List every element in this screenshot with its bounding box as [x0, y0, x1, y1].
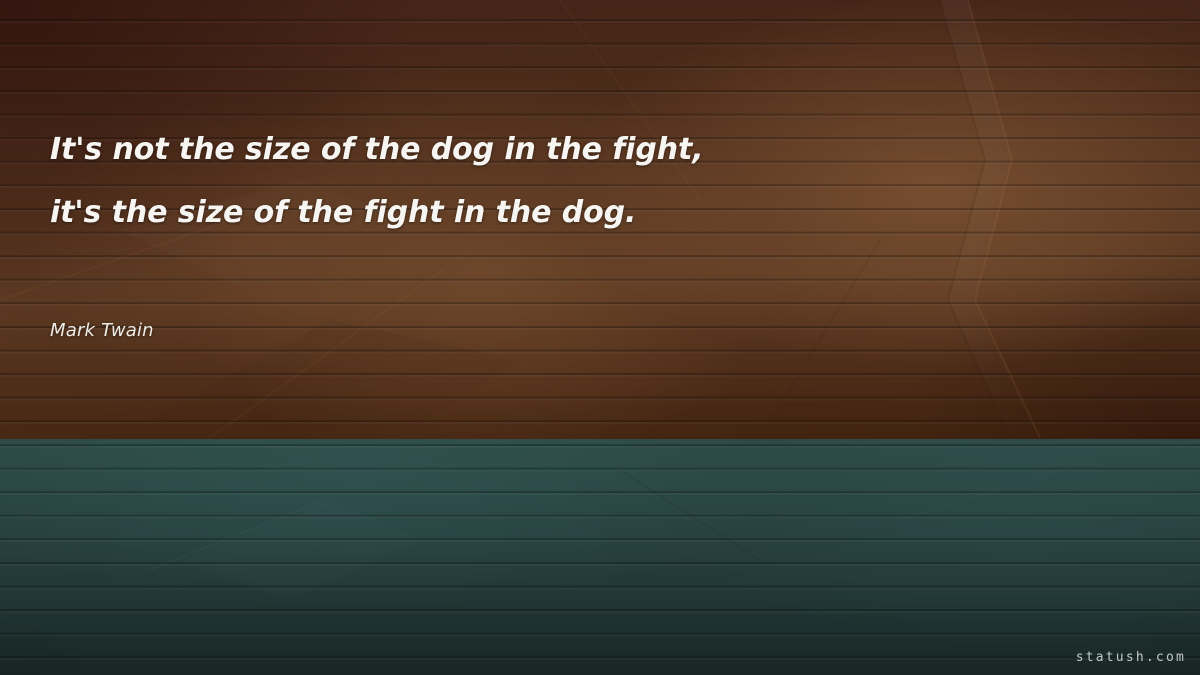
quote-line-1: It's not the size of the dog in the figh… [50, 118, 1140, 181]
quote-image-card: It's not the size of the dog in the figh… [0, 0, 1200, 675]
quote-author: Mark Twain [50, 320, 154, 341]
site-watermark: statush.com [1076, 650, 1186, 665]
quote-text: It's not the size of the dog in the figh… [50, 118, 1140, 244]
content-layer: It's not the size of the dog in the figh… [0, 0, 1200, 675]
quote-line-2: it's the size of the fight in the dog. [50, 181, 1140, 244]
